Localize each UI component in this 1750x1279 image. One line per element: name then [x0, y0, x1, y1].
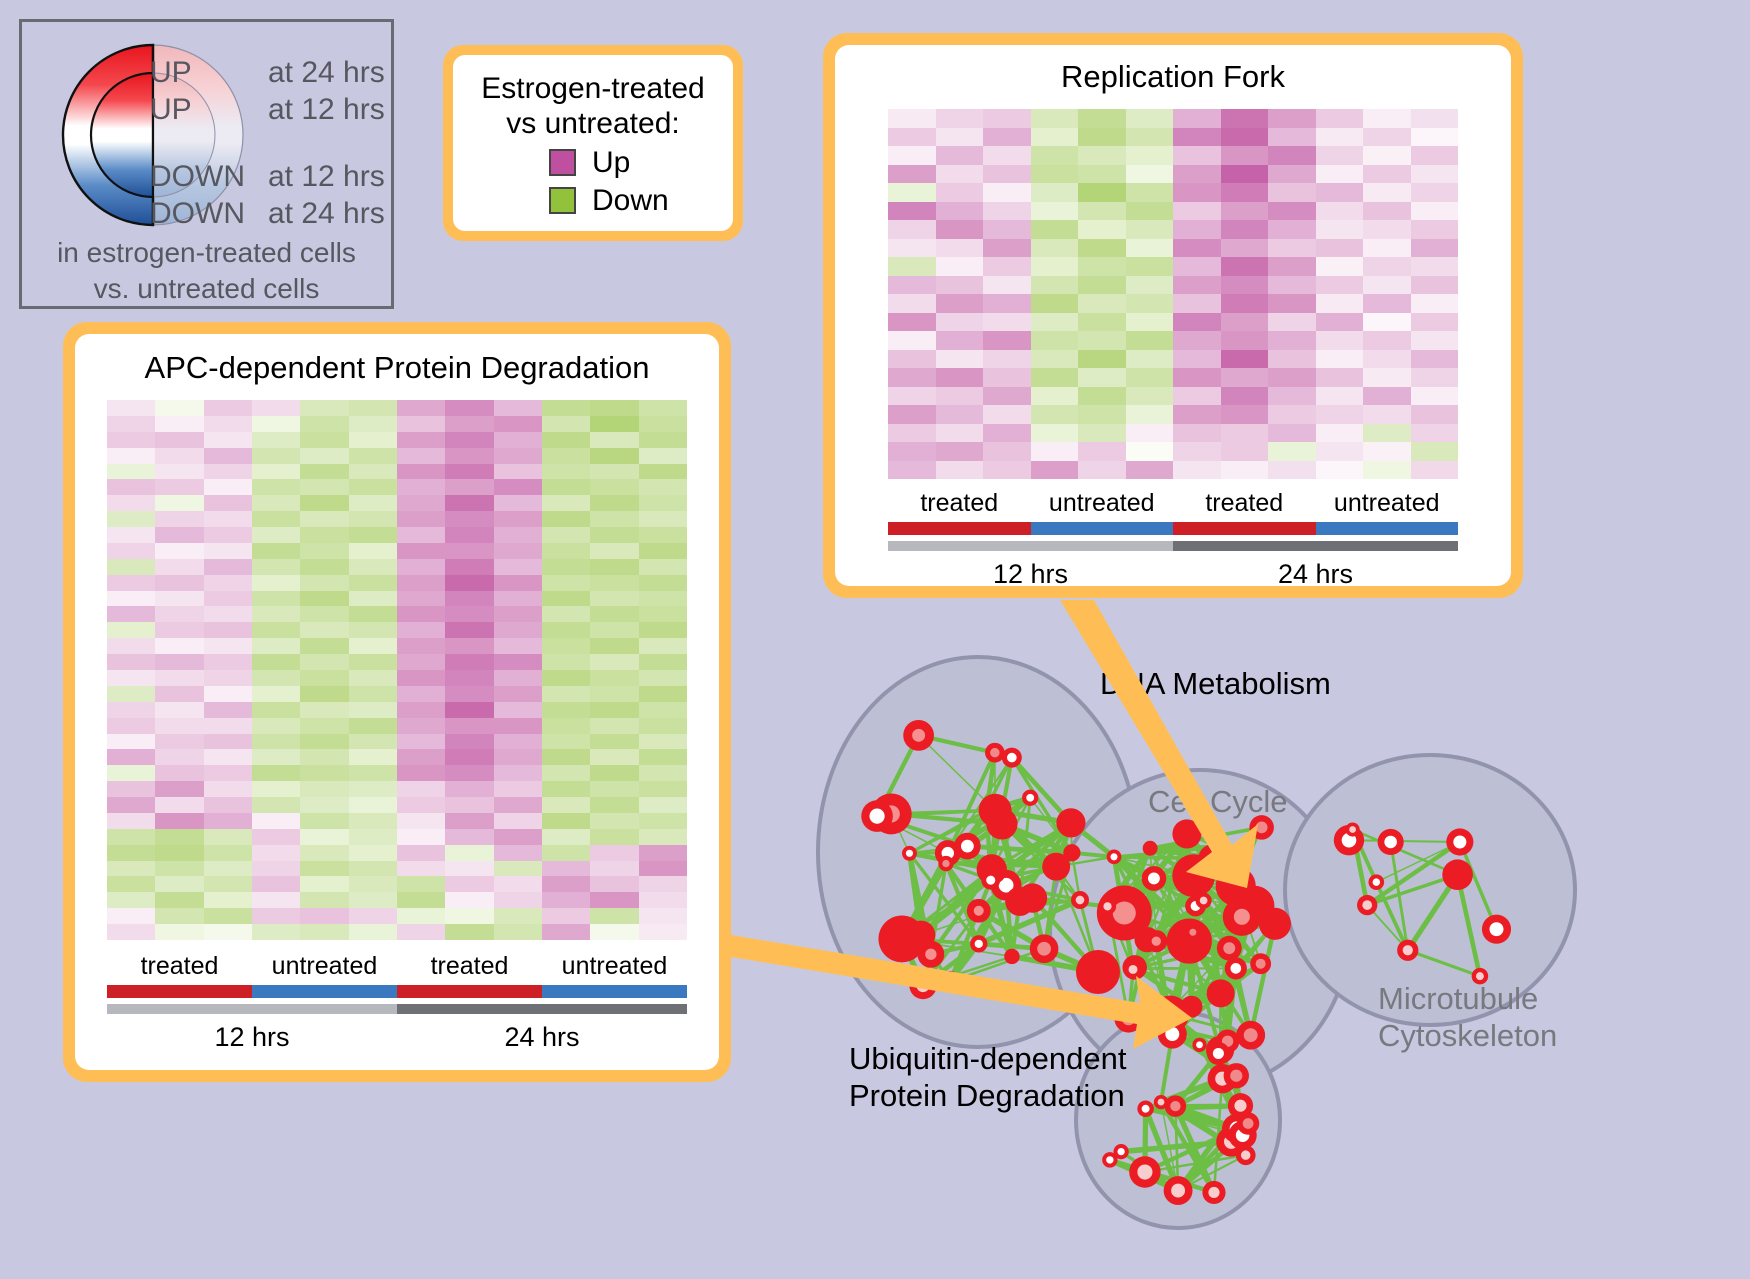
heatmap-cell — [445, 702, 493, 718]
heatmap-cell — [204, 797, 252, 813]
heatmap-cell — [1173, 424, 1221, 443]
heatmap-cell — [107, 749, 155, 765]
heatmap-cell — [397, 829, 445, 845]
heatmap-cell — [300, 622, 348, 638]
heatmap-cell — [204, 479, 252, 495]
heatmap-cell — [1126, 350, 1174, 369]
heatmap-cell — [542, 432, 590, 448]
heatmap-cell — [542, 654, 590, 670]
heatmap-cell — [252, 876, 300, 892]
heatmap-apc — [107, 400, 687, 940]
heatmap-cell — [349, 670, 397, 686]
heatmap-cell — [349, 622, 397, 638]
heatmap-cell — [107, 718, 155, 734]
heatmap-cell — [397, 876, 445, 892]
heatmap-cell — [1316, 442, 1364, 461]
network-node[interactable] — [1368, 874, 1384, 890]
heatmap-cell — [397, 400, 445, 416]
heatmap-cell — [542, 591, 590, 607]
heatmap-cell — [252, 638, 300, 654]
node-core — [1165, 1027, 1179, 1041]
heatmap-cell — [590, 876, 638, 892]
network-node[interactable] — [1209, 839, 1227, 857]
heatmap-cell — [397, 892, 445, 908]
network-node[interactable] — [1063, 844, 1080, 861]
heatmap-cell — [349, 749, 397, 765]
bar-12hrs — [107, 1004, 397, 1014]
heatmap-cell — [349, 734, 397, 750]
network-node[interactable] — [1223, 898, 1261, 936]
network-node[interactable] — [1442, 859, 1473, 890]
heatmap-cell — [936, 239, 984, 258]
network-node[interactable] — [1124, 960, 1143, 979]
heatmap-cell — [1268, 405, 1316, 424]
heatmap-cell — [1316, 109, 1364, 128]
heatmap-cell — [542, 876, 590, 892]
heatmap-cell — [1363, 220, 1411, 239]
node-core — [1037, 942, 1051, 956]
network-node[interactable] — [917, 941, 944, 968]
heatmap-cell — [204, 622, 252, 638]
heatmap-cell — [494, 638, 542, 654]
heatmap-cell — [397, 654, 445, 670]
network-node[interactable] — [967, 899, 991, 923]
network-node[interactable] — [1207, 979, 1235, 1007]
network-node[interactable] — [1160, 1000, 1180, 1020]
heatmap-cell — [1411, 202, 1459, 221]
network-node[interactable] — [1172, 819, 1201, 848]
heatmap-cell — [1221, 257, 1269, 276]
heatmap-cell — [1078, 350, 1126, 369]
heatmap-cell — [204, 892, 252, 908]
legend-row-down-24: DOWN at 24 hrs — [150, 195, 390, 232]
heatmap-cell — [1126, 146, 1174, 165]
heatmap-cell — [445, 622, 493, 638]
up-color-swatch — [549, 149, 576, 176]
panel-title: APC-dependent Protein Degradation — [145, 350, 650, 386]
heatmap-cell — [252, 622, 300, 638]
heatmap-cell — [542, 495, 590, 511]
heatmap-cell — [542, 543, 590, 559]
node-core — [1137, 1164, 1152, 1179]
network-node[interactable] — [1002, 748, 1022, 768]
heatmap-cell — [1411, 461, 1459, 480]
heatmap-cell — [204, 511, 252, 527]
heatmap-cell — [1078, 461, 1126, 480]
heatmap-cell — [349, 924, 397, 940]
heatmap-cell — [155, 606, 203, 622]
heatmap-cell — [494, 718, 542, 734]
heatmap-cell — [397, 749, 445, 765]
heatmap-cell — [1268, 257, 1316, 276]
network-node[interactable] — [1217, 936, 1242, 961]
heatmap-cell — [1363, 183, 1411, 202]
heatmap-cell — [349, 638, 397, 654]
heatmap-cell — [494, 479, 542, 495]
heatmap-cell — [107, 845, 155, 861]
heatmap-cell — [397, 845, 445, 861]
heatmap-cell — [590, 448, 638, 464]
network-node[interactable] — [903, 720, 934, 751]
heatmap-cell — [397, 797, 445, 813]
heatmap-cell — [349, 479, 397, 495]
heatmap-cell — [590, 559, 638, 575]
heatmap-cell — [107, 622, 155, 638]
heatmap-cell — [1078, 202, 1126, 221]
network-node[interactable] — [1158, 1019, 1187, 1048]
heatmap-cell — [107, 781, 155, 797]
heatmap-cell — [1031, 239, 1079, 258]
heatmap-cell — [397, 781, 445, 797]
heatmap-cell — [349, 892, 397, 908]
heatmap-cell — [590, 495, 638, 511]
heatmap-cell — [155, 686, 203, 702]
node-core — [1208, 1187, 1219, 1198]
heatmap-cell — [1173, 442, 1221, 461]
panel-title: Replication Fork — [1061, 59, 1285, 95]
heatmap-cell — [936, 202, 984, 221]
heatmap-cell — [983, 442, 1031, 461]
heatmap-cell — [1316, 220, 1364, 239]
heatmap-cell — [397, 495, 445, 511]
network-node[interactable] — [1482, 915, 1511, 944]
heatmap-cell — [542, 765, 590, 781]
node-core — [1243, 1118, 1254, 1129]
heatmap-cell — [1031, 405, 1079, 424]
heatmap-cell — [349, 686, 397, 702]
heatmap-cell — [590, 638, 638, 654]
heatmap-cell — [1173, 239, 1221, 258]
label-line-1: Microtubule — [1378, 980, 1557, 1017]
network-node[interactable] — [1129, 1156, 1160, 1187]
heatmap-cell — [445, 654, 493, 670]
heatmap-cell — [1363, 405, 1411, 424]
network-node[interactable] — [1107, 849, 1122, 864]
heatmap-cell — [1078, 183, 1126, 202]
network-node[interactable] — [861, 800, 893, 832]
network-node[interactable] — [1004, 949, 1019, 964]
network-node[interactable] — [1143, 841, 1158, 856]
heatmap-cell — [204, 765, 252, 781]
network-node[interactable] — [909, 972, 936, 999]
network-node[interactable] — [1346, 822, 1360, 836]
legend-when: at 12 hrs — [268, 160, 385, 194]
heatmap-cell — [349, 575, 397, 591]
network-node[interactable] — [1196, 892, 1212, 908]
heatmap-cell — [349, 495, 397, 511]
heatmap-cell — [1411, 165, 1459, 184]
heatmap-cell — [590, 702, 638, 718]
node-core — [1234, 909, 1250, 925]
network-node[interactable] — [939, 971, 961, 993]
heatmap-wrap: treated untreated treated untreated 12 h… — [888, 109, 1458, 590]
heatmap-cell — [107, 448, 155, 464]
network-node[interactable] — [1165, 1095, 1187, 1117]
network-node[interactable] — [1114, 1004, 1142, 1032]
heatmap-cell — [494, 908, 542, 924]
heatmap-cell — [494, 797, 542, 813]
heatmap-cell — [107, 606, 155, 622]
heatmap-cell — [1126, 109, 1174, 128]
heatmap-cell — [542, 924, 590, 940]
node-core — [1241, 1150, 1251, 1160]
node-core — [1158, 1099, 1165, 1106]
heatmap-cell — [494, 495, 542, 511]
heatmap-cell — [300, 543, 348, 559]
bar-untreated-24 — [1316, 522, 1459, 535]
heatmap-cell — [1221, 461, 1269, 480]
network-node[interactable] — [1378, 829, 1404, 855]
heatmap-cell — [1031, 368, 1079, 387]
heatmap-cell — [639, 606, 687, 622]
heatmap-cell — [397, 734, 445, 750]
column-label-treated-24: treated — [1173, 489, 1316, 518]
heatmap-cell — [204, 543, 252, 559]
heatmap-cell — [888, 313, 936, 332]
heatmap-cell — [1078, 109, 1126, 128]
heatmap-cell — [1316, 294, 1364, 313]
heatmap-cell — [1411, 257, 1459, 276]
network-node[interactable] — [981, 871, 1000, 890]
heatmap-cell — [1031, 350, 1079, 369]
heatmap-cell — [397, 686, 445, 702]
heatmap-cell — [1363, 294, 1411, 313]
heatmap-cell — [1031, 442, 1079, 461]
heatmap-cell — [155, 845, 203, 861]
heatmap-cell — [494, 845, 542, 861]
heatmap-cell — [445, 432, 493, 448]
network-node[interactable] — [970, 935, 987, 952]
node-core — [1106, 1156, 1113, 1163]
heatmap-cell — [888, 146, 936, 165]
heatmap-cell — [252, 591, 300, 607]
node-core — [1129, 965, 1138, 974]
caption-line-1: in estrogen-treated cells — [22, 235, 391, 271]
node-core — [1256, 959, 1266, 969]
heatmap-cell — [107, 797, 155, 813]
heatmap-cell — [542, 908, 590, 924]
network-node[interactable] — [1250, 953, 1271, 974]
heatmap-cell — [1126, 183, 1174, 202]
heatmap-cell — [204, 781, 252, 797]
node-core — [1170, 1101, 1180, 1111]
network-node[interactable] — [1357, 895, 1377, 915]
bar-treated-12 — [107, 985, 252, 998]
heatmap-cell — [1126, 276, 1174, 295]
heatmap-cell — [1316, 183, 1364, 202]
heatmap-cell — [1268, 202, 1316, 221]
heatmap-cell — [349, 861, 397, 877]
network-node[interactable] — [1076, 950, 1120, 994]
heatmap-cell — [1221, 405, 1269, 424]
heatmap-cell — [107, 400, 155, 416]
heatmap-cell — [300, 702, 348, 718]
heatmap-cell — [397, 718, 445, 734]
heatmap-cell — [252, 654, 300, 670]
heatmap-cell — [445, 876, 493, 892]
heatmap-cell — [936, 294, 984, 313]
node-core — [1403, 945, 1413, 955]
network-node[interactable] — [1259, 908, 1291, 940]
heatmap-cell — [155, 511, 203, 527]
heatmap-cell — [349, 876, 397, 892]
network-node[interactable] — [1225, 957, 1247, 979]
network-node[interactable] — [1137, 1100, 1154, 1117]
network-node[interactable] — [1022, 790, 1038, 806]
heatmap-cell — [590, 686, 638, 702]
heatmap-cell — [300, 464, 348, 480]
heatmap-cell — [1221, 165, 1269, 184]
heatmap-cell — [639, 479, 687, 495]
heatmap-cell — [542, 638, 590, 654]
node-core — [912, 729, 925, 742]
heatmap-cell — [1411, 405, 1459, 424]
heatmap-cell — [1126, 461, 1174, 480]
heatmap-cell — [1173, 165, 1221, 184]
heatmap-cell — [445, 749, 493, 765]
network-node[interactable] — [1397, 940, 1418, 961]
heatmap-cell — [204, 924, 252, 940]
network-node[interactable] — [1236, 1021, 1265, 1050]
heatmap-cell — [639, 924, 687, 940]
heatmap-cell — [1078, 424, 1126, 443]
heatmap-cell — [397, 908, 445, 924]
network-node[interactable] — [1145, 930, 1167, 952]
heatmap-cell — [155, 861, 203, 877]
heatmap-cell — [1031, 276, 1079, 295]
heatmap-cell — [1411, 387, 1459, 406]
network-node[interactable] — [1142, 866, 1167, 891]
node-core — [925, 949, 936, 960]
network-node[interactable] — [985, 743, 1005, 763]
network-node[interactable] — [1071, 891, 1089, 909]
heatmap-cell — [1268, 331, 1316, 350]
network-node[interactable] — [1237, 1112, 1259, 1134]
heatmap-cell — [1268, 350, 1316, 369]
heatmap-cell — [204, 702, 252, 718]
heatmap-cell — [888, 294, 936, 313]
network-node[interactable] — [1202, 1181, 1225, 1204]
heatmap-cell — [639, 813, 687, 829]
time-label-24hrs: 24 hrs — [397, 1022, 687, 1053]
network-node[interactable] — [938, 856, 953, 871]
cluster-label-dna-metabolism: DNA Metabolism — [1100, 665, 1331, 702]
heatmap-cell — [300, 749, 348, 765]
network-node[interactable] — [979, 803, 994, 818]
heatmap-cell — [1173, 128, 1221, 147]
heatmap-cell — [300, 654, 348, 670]
heatmap-cell — [445, 670, 493, 686]
network-node[interactable] — [1207, 1042, 1230, 1065]
legend-tag: UP — [150, 93, 268, 127]
heatmap-cell — [494, 622, 542, 638]
heatmap-cell — [107, 892, 155, 908]
heatmap-cell — [983, 109, 1031, 128]
heatmap-cell — [300, 575, 348, 591]
heatmap-cell — [494, 432, 542, 448]
network-node[interactable] — [1186, 925, 1201, 940]
heatmap-cell — [639, 829, 687, 845]
heatmap-cell — [397, 559, 445, 575]
heatmap-cell — [1411, 442, 1459, 461]
heatmap-replication-fork — [888, 109, 1458, 479]
heatmap-cell — [155, 527, 203, 543]
network-node[interactable] — [1446, 828, 1473, 855]
heatmap-cell — [1078, 442, 1126, 461]
heatmap-cell — [590, 749, 638, 765]
heatmap-cell — [1316, 405, 1364, 424]
network-node[interactable] — [1005, 887, 1034, 916]
heatmap-cell — [590, 892, 638, 908]
bar-12hrs — [888, 541, 1173, 551]
network-node[interactable] — [1181, 996, 1203, 1018]
heatmap-cell — [155, 543, 203, 559]
heatmap-cell — [155, 734, 203, 750]
heatmap-cell — [1316, 165, 1364, 184]
heatmap-cell — [590, 606, 638, 622]
network-node[interactable] — [1113, 1144, 1128, 1159]
heatmap-cell — [1268, 183, 1316, 202]
heatmap-cell — [1316, 424, 1364, 443]
heatmap-cell — [155, 416, 203, 432]
heatmap-cell — [936, 276, 984, 295]
network-node[interactable] — [1154, 1095, 1168, 1109]
up-label: Up — [592, 146, 630, 180]
network-node[interactable] — [1236, 1145, 1256, 1165]
heatmap-cell — [397, 464, 445, 480]
node-core — [1165, 1005, 1175, 1015]
network-node[interactable] — [1192, 1038, 1206, 1052]
time-label-12hrs: 12 hrs — [888, 559, 1173, 590]
heatmap-cell — [888, 368, 936, 387]
heatmap-cell — [1173, 313, 1221, 332]
heatmap-cell — [204, 400, 252, 416]
network-node[interactable] — [1164, 1176, 1193, 1205]
heatmap-cell — [107, 829, 155, 845]
heatmap-cell — [1268, 109, 1316, 128]
heatmap-cell — [542, 606, 590, 622]
heatmap-cell — [542, 464, 590, 480]
legend-tag: DOWN — [150, 197, 268, 231]
heatmap-cell — [397, 591, 445, 607]
column-label-untreated-24: untreated — [1316, 489, 1459, 518]
network-node[interactable] — [1056, 808, 1085, 837]
heatmap-cell — [888, 424, 936, 443]
network-node[interactable] — [1167, 918, 1212, 963]
heatmap-cell — [107, 908, 155, 924]
heatmap-cell — [397, 813, 445, 829]
heatmap-cell — [1268, 146, 1316, 165]
heatmap-cell — [1031, 387, 1079, 406]
network-node[interactable] — [1099, 898, 1116, 915]
heatmap-cell — [494, 448, 542, 464]
heatmap-cell — [1126, 313, 1174, 332]
heatmap-cell — [204, 638, 252, 654]
heatmap-cell — [888, 128, 936, 147]
network-node[interactable] — [902, 846, 917, 861]
network-node[interactable] — [1030, 934, 1059, 963]
heatmap-cell — [888, 109, 936, 128]
heatmap-cell — [107, 638, 155, 654]
heatmap-cell — [1126, 202, 1174, 221]
node-core — [1234, 1100, 1246, 1112]
network-node[interactable] — [1224, 1063, 1249, 1088]
heatmap-cell — [542, 749, 590, 765]
heatmap-cell — [936, 405, 984, 424]
heatmap-cell — [1221, 276, 1269, 295]
heatmap-cell — [542, 781, 590, 797]
heatmap-cell — [445, 591, 493, 607]
